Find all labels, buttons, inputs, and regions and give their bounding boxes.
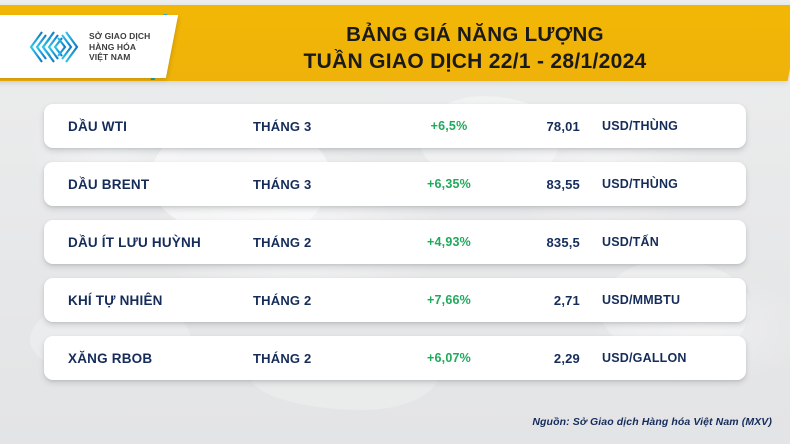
price-table: DẦU WTI THÁNG 3 +6,5% 78,01 USD/THÙNG DẦ… [44, 104, 746, 394]
brand-logo-text: SỞ GIAO DỊCH HÀNG HÓA VIỆT NAM [89, 31, 150, 64]
table-row[interactable]: DẦU BRENT THÁNG 3 +6,35% 83,55 USD/THÙNG [44, 162, 746, 206]
table-row[interactable]: DẦU WTI THÁNG 3 +6,5% 78,01 USD/THÙNG [44, 104, 746, 148]
logo-line-3: VIỆT NAM [89, 52, 130, 62]
mxv-chevron-logo-icon [28, 27, 82, 67]
source-note: Nguồn: Sở Giao dịch Hàng hóa Việt Nam (M… [532, 416, 772, 428]
price-value: 78,01 [484, 119, 580, 134]
logo-line-2: HÀNG HÓA [89, 42, 136, 52]
contract-month: THÁNG 2 [253, 235, 311, 250]
contract-month: THÁNG 3 [253, 177, 311, 192]
title-line-1: BẢNG GIÁ NĂNG LƯỢNG [346, 21, 604, 48]
title-line-2: TUẦN GIAO DỊCH 22/1 - 28/1/2024 [303, 48, 646, 76]
table-row[interactable]: KHÍ TỰ NHIÊN THÁNG 2 +7,66% 2,71 USD/MMB… [44, 278, 746, 322]
price-unit: USD/TẤN [602, 235, 659, 249]
price-value: 2,71 [484, 293, 580, 308]
commodity-name: DẦU BRENT [68, 177, 149, 192]
price-value: 2,29 [484, 351, 580, 366]
page-title: BẢNG GIÁ NĂNG LƯỢNG TUẦN GIAO DỊCH 22/1 … [195, 15, 755, 81]
contract-month: THÁNG 2 [253, 351, 311, 366]
price-value: 83,55 [484, 177, 580, 192]
commodity-name: DẦU WTI [68, 119, 127, 134]
commodity-name: DẦU ÍT LƯU HUỲNH [68, 235, 201, 250]
header-banner-content: SỞ GIAO DỊCH HÀNG HÓA VIỆT NAM BẢNG GIÁ … [0, 5, 790, 81]
table-row[interactable]: DẦU ÍT LƯU HUỲNH THÁNG 2 +4,93% 835,5 US… [44, 220, 746, 264]
commodity-name: XĂNG RBOB [68, 351, 152, 366]
logo-line-1: SỞ GIAO DỊCH [89, 31, 150, 41]
price-unit: USD/MMBTU [602, 293, 680, 307]
price-unit: USD/THÙNG [602, 119, 678, 133]
price-unit: USD/GALLON [602, 351, 687, 365]
brand-logo: SỞ GIAO DỊCH HÀNG HÓA VIỆT NAM [28, 23, 168, 71]
commodity-name: KHÍ TỰ NHIÊN [68, 293, 163, 308]
contract-month: THÁNG 3 [253, 119, 311, 134]
price-unit: USD/THÙNG [602, 177, 678, 191]
table-row[interactable]: XĂNG RBOB THÁNG 2 +6,07% 2,29 USD/GALLON [44, 336, 746, 380]
contract-month: THÁNG 2 [253, 293, 311, 308]
price-value: 835,5 [484, 235, 580, 250]
energy-price-board: SỞ GIAO DỊCH HÀNG HÓA VIỆT NAM BẢNG GIÁ … [0, 0, 790, 444]
